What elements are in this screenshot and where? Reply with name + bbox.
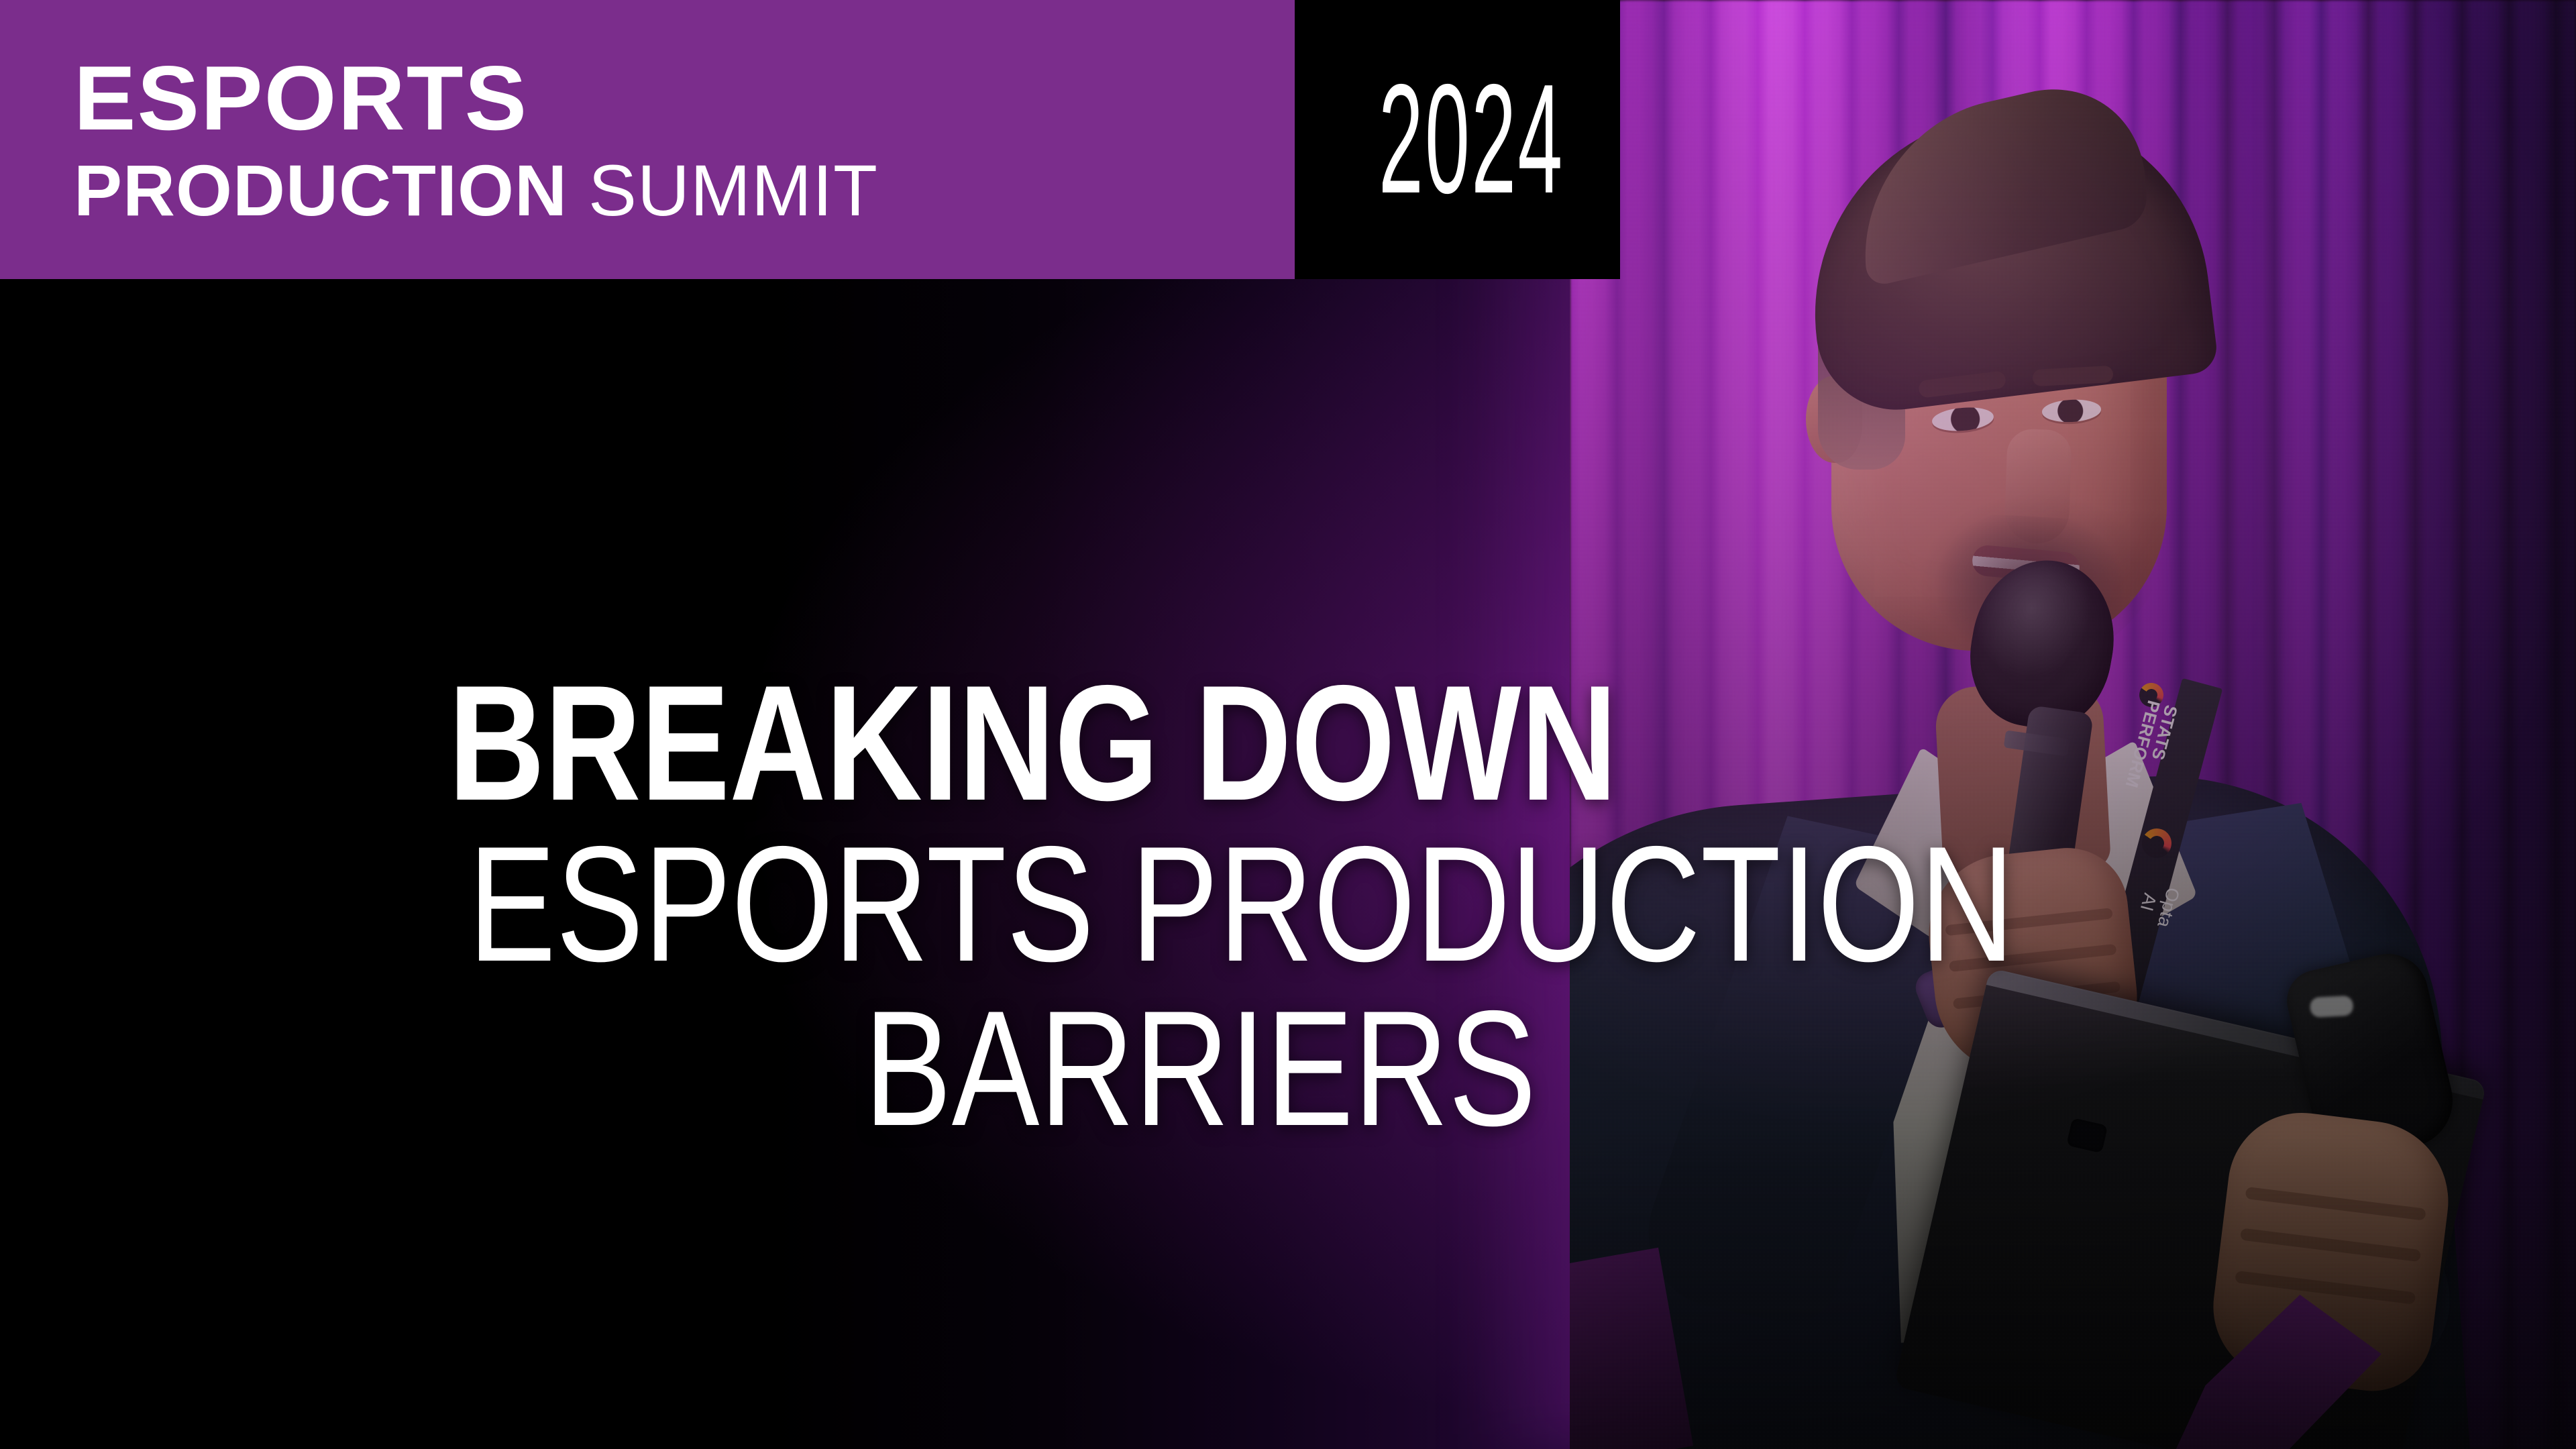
headline-line-1: BREAKING DOWN: [448, 664, 1536, 822]
logo-production-text: PRODUCTION: [74, 150, 568, 231]
logo-summit-text: SUMMIT: [568, 150, 878, 231]
slide-headline: BREAKING DOWN ESPORTS PRODUCTION BARRIER…: [201, 664, 1536, 1150]
event-year: 2024: [1379, 62, 1564, 217]
presentation-slide: STATS PERFORM Opta AI STATS PERFORM ESPO…: [0, 0, 2576, 1449]
headline-line-3: BARRIERS: [468, 986, 1536, 1150]
photo-vignette: [1570, 0, 2576, 1449]
logo-subtitle: PRODUCTION SUMMIT: [74, 154, 878, 227]
speaker-photo: STATS PERFORM Opta AI STATS PERFORM ESPO…: [1570, 0, 2576, 1449]
headline-line-2: ESPORTS PRODUCTION: [468, 822, 1536, 986]
event-logo: ESPORTS PRODUCTION SUMMIT: [74, 52, 878, 227]
logo-esports-text: ESPORTS: [74, 52, 894, 144]
